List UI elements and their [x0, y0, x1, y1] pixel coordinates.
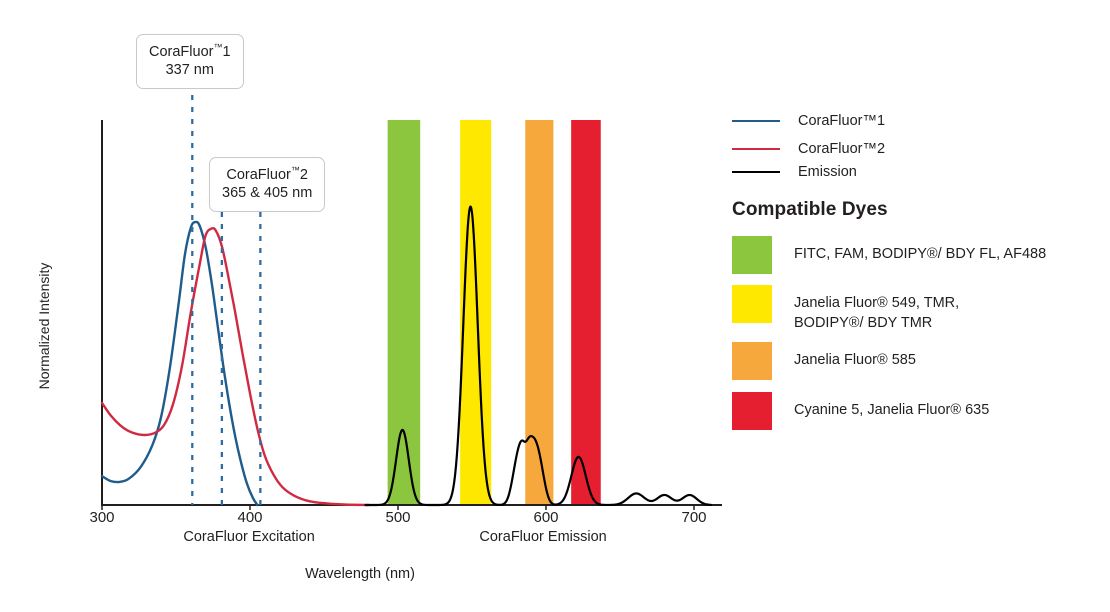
spectra-figure: CoraFluor™1 337 nm CoraFluor™2 365 & 405…	[0, 0, 1110, 612]
x-tick-label: 600	[516, 509, 576, 526]
callout-value-1: 365 & 405 nm	[222, 184, 312, 203]
compatible-dyes-title: Compatible Dyes	[732, 199, 888, 221]
emission-band-green	[388, 120, 421, 505]
dye-item-red: Cyanine 5, Janelia Fluor® 635	[732, 392, 989, 430]
legend-line-swatch	[732, 120, 780, 122]
legend-line-swatch	[732, 171, 780, 173]
legend-item-emission: Emission	[732, 164, 857, 180]
dye-item-yellow: Janelia Fluor® 549, TMR, BODIPY®/ BDY TM…	[732, 285, 959, 333]
legend-item-corafluor2: CoraFluor™2	[732, 141, 885, 157]
dye-label: Janelia Fluor® 549, TMR, BODIPY®/ BDY TM…	[794, 285, 959, 333]
emission-band-red	[571, 120, 601, 505]
dye-item-orange: Janelia Fluor® 585	[732, 342, 916, 380]
chart-area: CoraFluor™1 337 nm CoraFluor™2 365 & 405…	[0, 0, 730, 612]
dye-item-green: FITC, FAM, BODIPY®/ BDY FL, AF488	[732, 236, 1046, 274]
callout-value-0: 337 nm	[149, 61, 231, 80]
x-tick-label: 300	[72, 509, 132, 526]
y-axis-title: Normalized Intensity	[36, 246, 52, 406]
legend-label: Emission	[798, 164, 857, 180]
dye-color-swatch	[732, 392, 772, 430]
callout-corafluor1: CoraFluor™1 337 nm	[136, 34, 244, 89]
x-tick-label: 400	[220, 509, 280, 526]
legend-label: CoraFluor™1	[798, 113, 885, 129]
x-tick-label: 700	[664, 509, 724, 526]
curve-CoraFluor1	[102, 222, 257, 505]
dye-color-swatch	[732, 236, 772, 274]
x-axis-title: Wavelength (nm)	[240, 566, 480, 582]
legend-item-corafluor1: CoraFluor™1	[732, 113, 885, 129]
dye-color-swatch	[732, 342, 772, 380]
callout-corafluor2: CoraFluor™2 365 & 405 nm	[209, 157, 325, 212]
dye-label: Cyanine 5, Janelia Fluor® 635	[794, 392, 989, 420]
dye-color-swatch	[732, 285, 772, 323]
dye-label: FITC, FAM, BODIPY®/ BDY FL, AF488	[794, 236, 1046, 264]
x-tick-label: 500	[368, 509, 428, 526]
legend-panel: CoraFluor™1 CoraFluor™2 Emission Compati…	[730, 0, 1110, 612]
dye-label: Janelia Fluor® 585	[794, 342, 916, 370]
legend-line-swatch	[732, 148, 780, 150]
emission-band-orange	[525, 120, 553, 505]
callout-title-0: CoraFluor™1	[149, 44, 231, 60]
callout-title-1: CoraFluor™2	[226, 167, 308, 183]
legend-label: CoraFluor™2	[798, 141, 885, 157]
